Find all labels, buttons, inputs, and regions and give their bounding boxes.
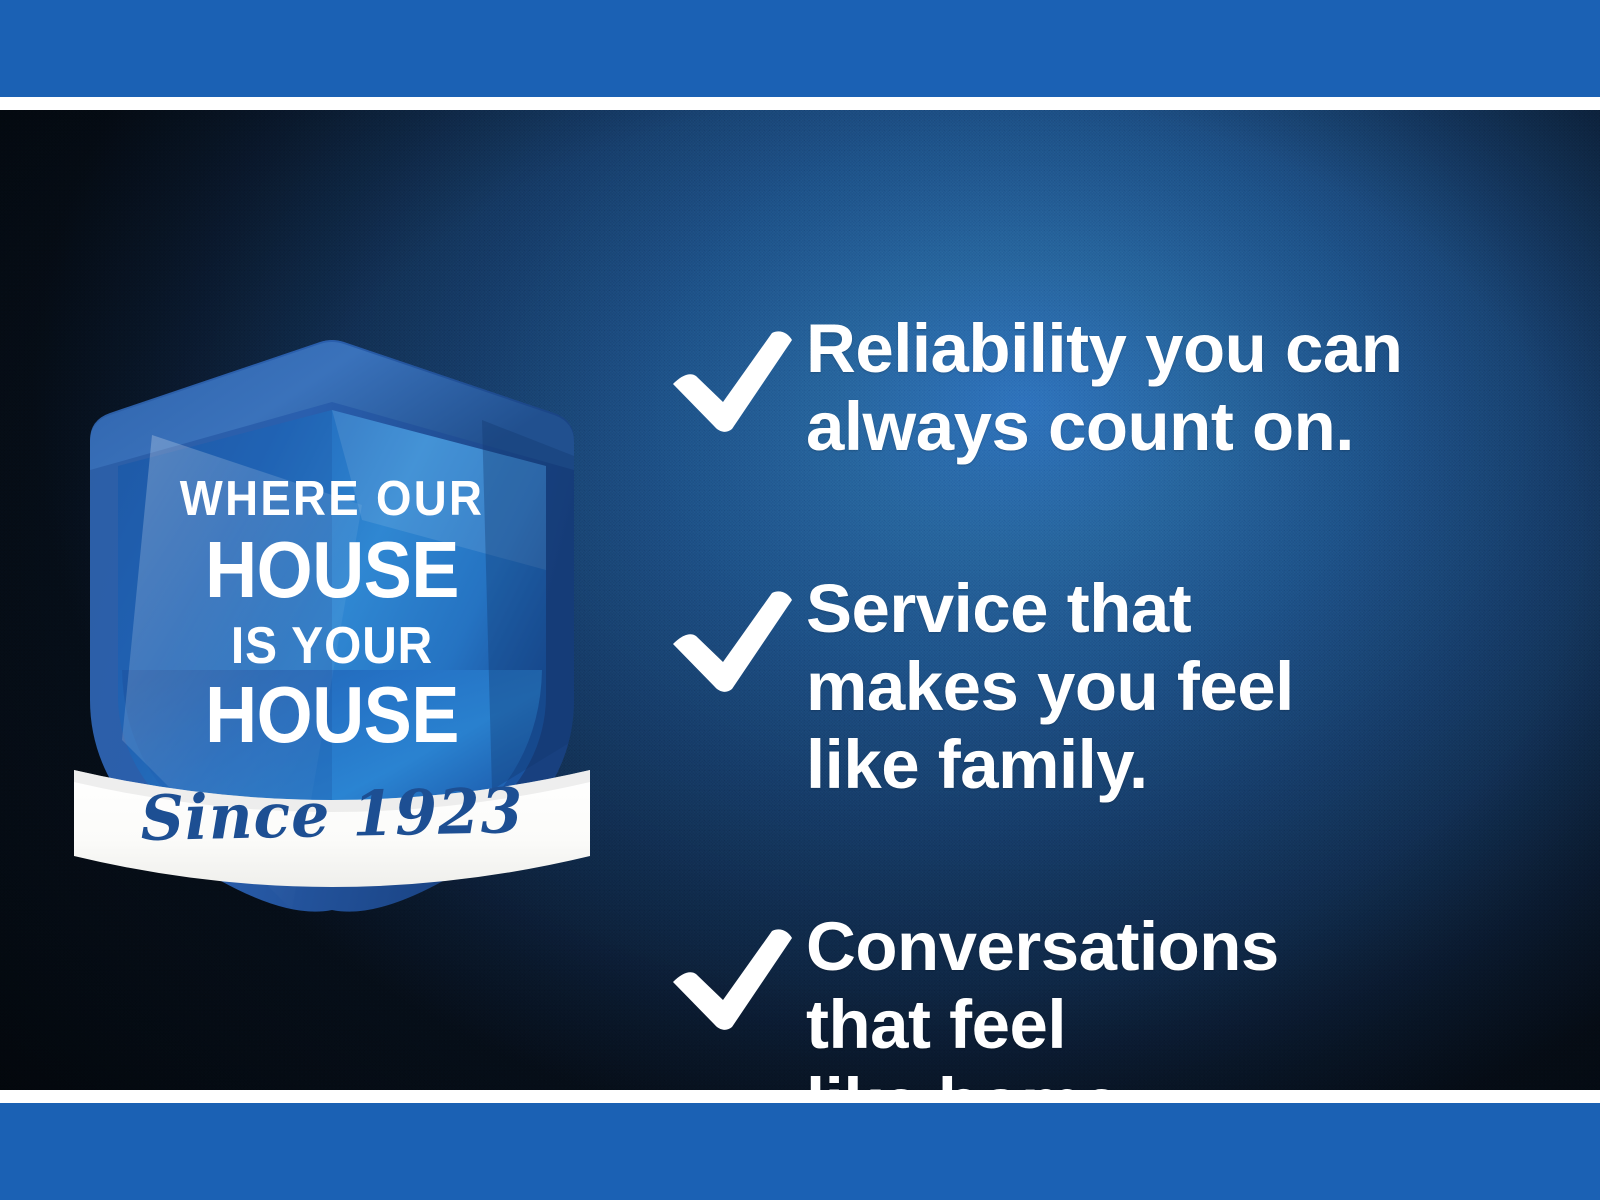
top-brand-bar	[0, 0, 1600, 97]
checkmark-icon	[668, 926, 796, 1032]
checkmark-icon	[668, 588, 796, 694]
list-item: Reliability you can always count on.	[668, 310, 1548, 466]
list-item: Service that makes you feel like family.	[668, 570, 1548, 804]
benefits-list: Reliability you can always count on. Ser…	[668, 310, 1548, 1090]
list-item: Conversations that feel like home.	[668, 908, 1548, 1090]
promo-graphic: WHERE OUR HOUSE IS YOUR HOUSE Since 1923…	[0, 0, 1600, 1200]
main-panel: WHERE OUR HOUSE IS YOUR HOUSE Since 1923…	[0, 110, 1600, 1090]
list-item-text: Conversations that feel like home.	[806, 908, 1548, 1090]
bottom-brand-bar	[0, 1103, 1600, 1200]
checkmark-icon	[668, 328, 796, 434]
list-item-text: Service that makes you feel like family.	[806, 570, 1548, 804]
list-item-text: Reliability you can always count on.	[806, 310, 1548, 466]
shield-badge: WHERE OUR HOUSE IS YOUR HOUSE Since 1923	[62, 270, 602, 910]
